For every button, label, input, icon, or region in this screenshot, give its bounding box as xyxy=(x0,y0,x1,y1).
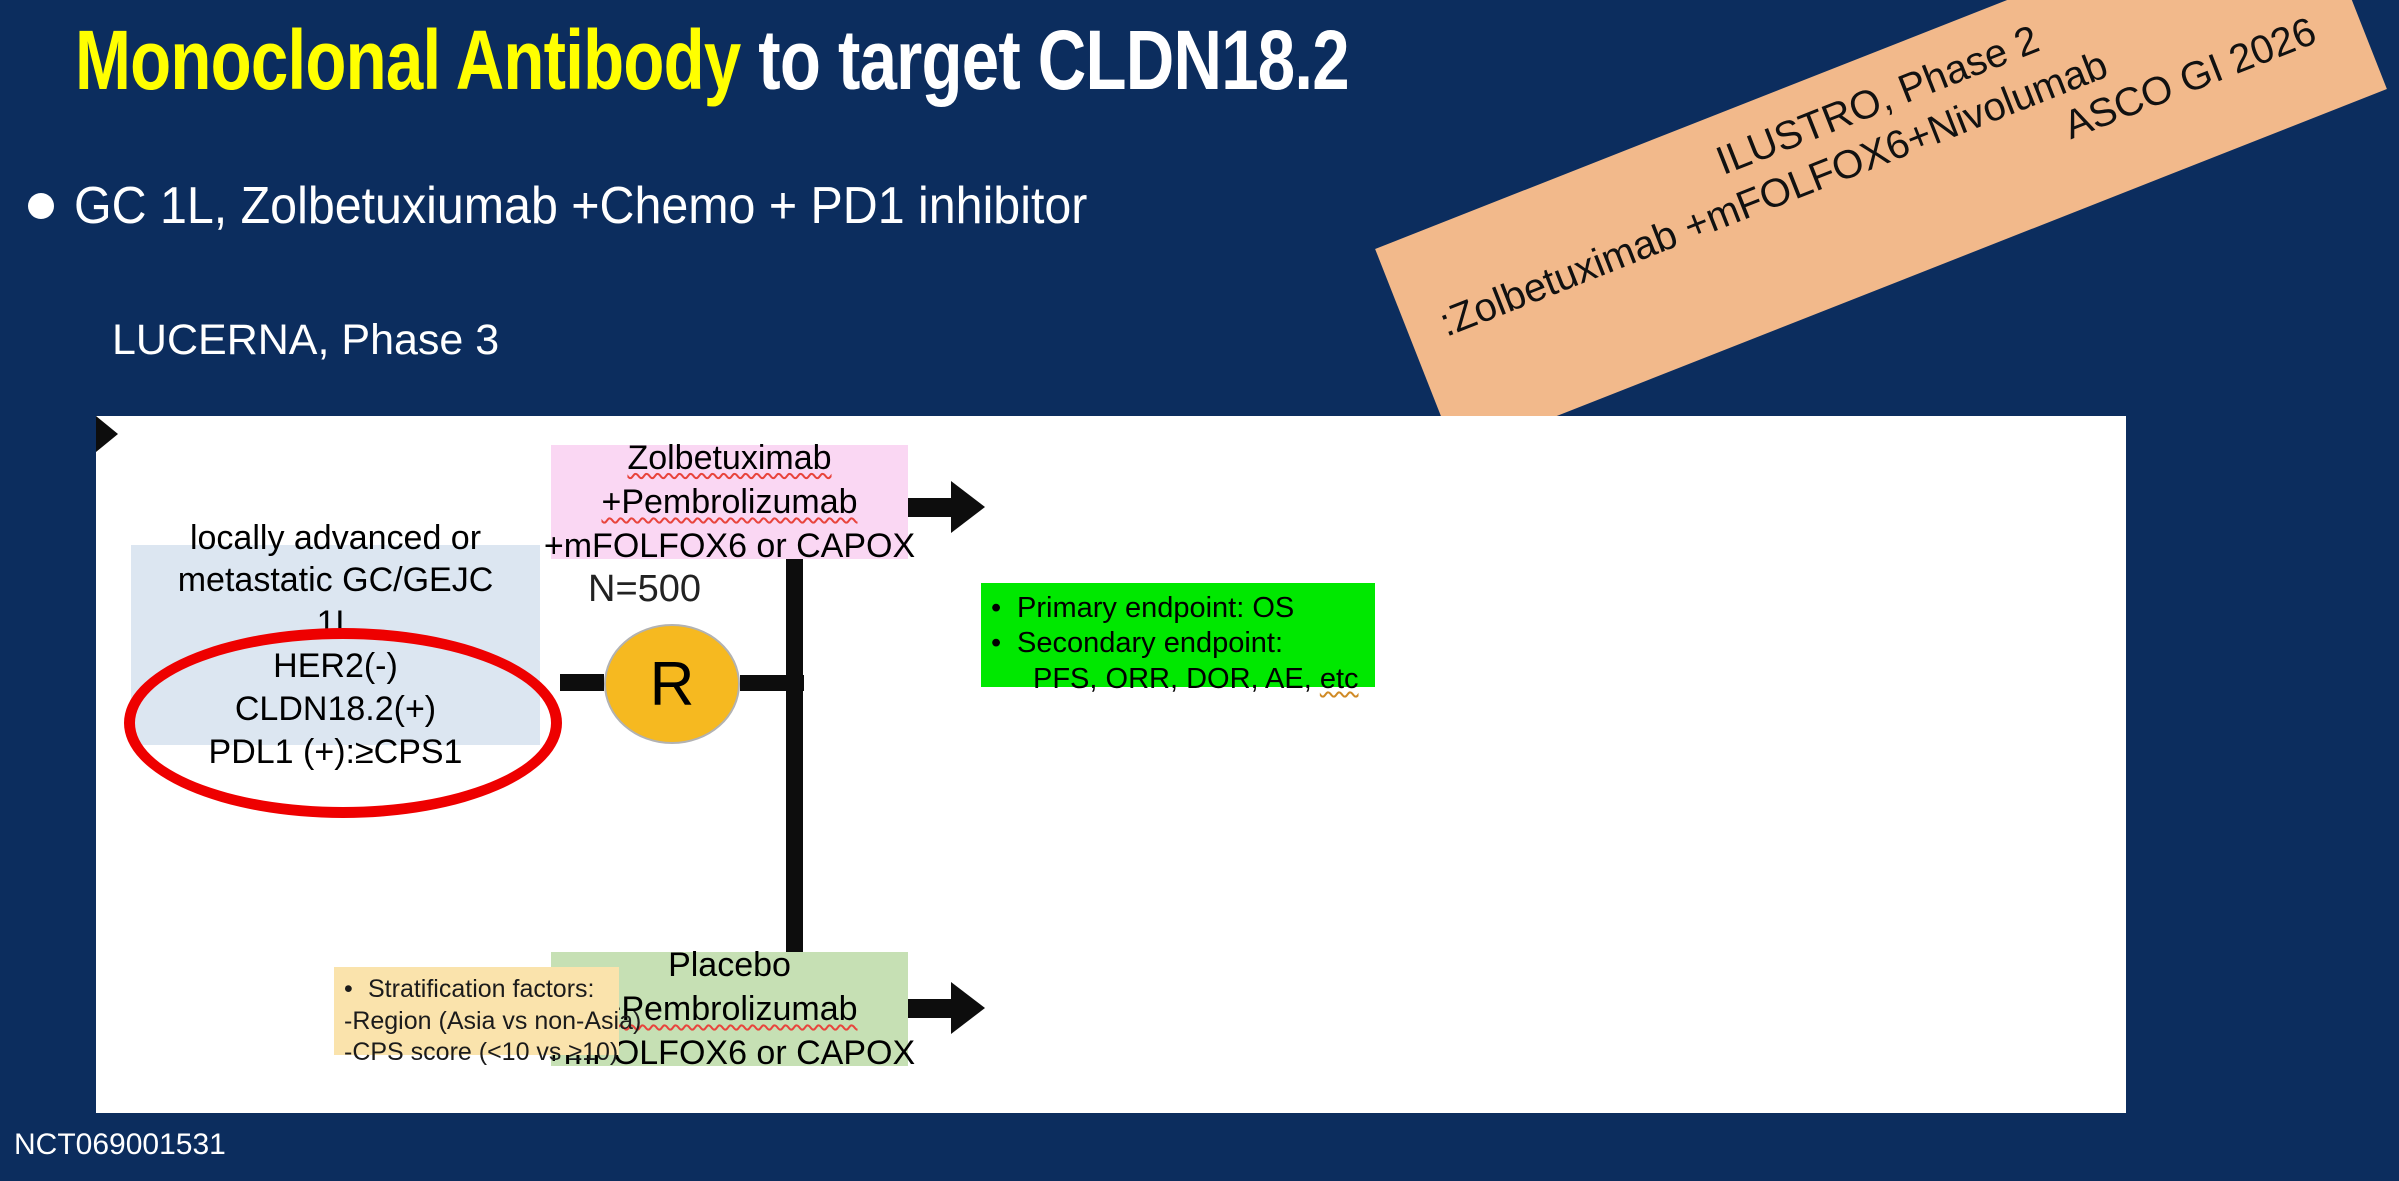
experimental-arm-line: Zolbetuximab xyxy=(627,436,831,480)
arrowhead-experimental-icon xyxy=(951,481,985,533)
endpoint-continuation: PFS, ORR, DOR, AE, etc xyxy=(991,662,1375,697)
nct-identifier: NCT069001531 xyxy=(14,1128,226,1162)
endpoint-item: • Secondary endpoint: xyxy=(991,626,1375,661)
randomization-node: R xyxy=(604,624,740,744)
trial-design-diagram: locally advanced or metastatic GC/GEJC 1… xyxy=(96,416,2126,1113)
experimental-arm-line: +mFOLFOX6 or CAPOX xyxy=(544,524,915,568)
bullet-line: GC 1L, Zolbetuxiumab +Chemo + PD1 inhibi… xyxy=(28,180,1164,232)
eligibility-line: metastatic GC/GEJC xyxy=(178,559,494,602)
stratification-factor: -Region (Asia vs non-Asia) xyxy=(344,1006,619,1038)
stratification-factor: -CPS score (<10 vs ≥10) xyxy=(344,1037,619,1069)
arrow-into-randomization xyxy=(560,674,604,691)
eligibility-line: locally advanced or xyxy=(190,517,481,560)
endpoint-bullet-icon: • xyxy=(991,626,1001,661)
eligibility-line: CLDN18.2(+) xyxy=(235,688,436,731)
eligibility-criteria-box: locally advanced or metastatic GC/GEJC 1… xyxy=(131,545,540,745)
experimental-arm-box: Zolbetuximab +Pembrolizumab +mFOLFOX6 or… xyxy=(551,445,908,559)
ilustro-annotation-banner: ILUSTRO, Phase 2 :Zolbetuximab +mFOLFOX6… xyxy=(1375,0,2387,456)
page-title-rest: to target CLDN18.2 xyxy=(740,13,1348,107)
randomization-label: R xyxy=(650,649,695,720)
control-arm-line: Placebo xyxy=(668,943,791,987)
trial-name-label: LUCERNA, Phase 3 xyxy=(112,316,499,365)
enrollment-label: N=500 xyxy=(588,568,701,611)
bullet-label: GC 1L, Zolbetuxiumab +Chemo + PD1 inhibi… xyxy=(74,180,1087,232)
page-title: Monoclonal Antibody to target CLDN18.2 xyxy=(75,18,1349,102)
bullet-dot-icon xyxy=(28,193,54,219)
endpoints-box: • Primary endpoint: OS • Secondary endpo… xyxy=(981,583,1375,687)
stratification-heading: Stratification factors: xyxy=(368,974,594,1006)
stratification-heading-row: • Stratification factors: xyxy=(344,974,619,1006)
endpoint-bullet-icon: • xyxy=(991,591,1001,626)
eligibility-line: 1L xyxy=(317,602,355,645)
arrowhead-control-icon xyxy=(951,982,985,1034)
stratification-box: • Stratification factors: -Region (Asia … xyxy=(334,967,619,1055)
branch-trunk-line xyxy=(786,498,803,1018)
page-title-highlight: Monoclonal Antibody xyxy=(75,13,740,107)
stratification-bullet-icon: • xyxy=(344,974,352,1006)
endpoint-continuation-text: PFS, ORR, DOR, AE, xyxy=(1033,663,1320,695)
arrowhead-into-randomization-icon xyxy=(96,416,118,452)
eligibility-line: HER2(-) xyxy=(273,645,398,688)
endpoint-continuation-flagged: etc xyxy=(1320,663,1359,695)
endpoint-label: Secondary endpoint: xyxy=(1017,626,1283,661)
endpoint-label: Primary endpoint: OS xyxy=(1017,591,1294,626)
endpoint-item: • Primary endpoint: OS xyxy=(991,591,1375,626)
eligibility-line: PDL1 (+):≥CPS1 xyxy=(209,731,463,774)
experimental-arm-line: +Pembrolizumab xyxy=(601,480,857,524)
